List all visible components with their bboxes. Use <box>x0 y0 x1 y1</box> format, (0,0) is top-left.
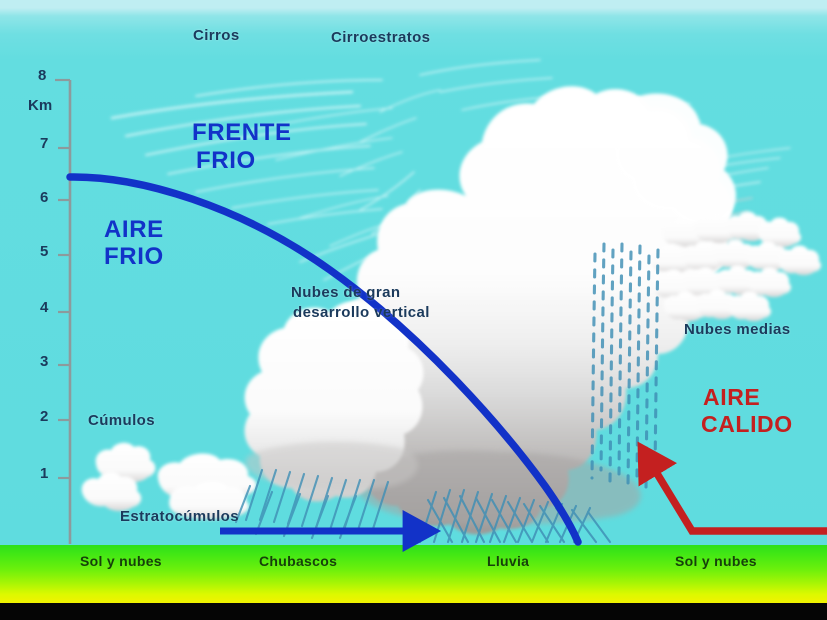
label-aire-frio-line1: AIRE <box>104 217 164 244</box>
label-nubes-gran-desarrollo-line2: desarrollo vertical <box>293 305 430 322</box>
ground-condition-3: Sol y nubes <box>675 554 757 570</box>
label-aire-calido-line1: AIRE <box>703 385 760 411</box>
cumulus-congestus-cloud <box>245 301 424 502</box>
label-aire-frio-line2: FRIO <box>104 244 164 271</box>
label-aire-calido-line2: CALIDO <box>701 412 793 438</box>
altocumulus-puff-grid <box>650 212 821 322</box>
y-axis-tick-6: 6 <box>40 190 48 207</box>
y-axis-tick-1: 1 <box>40 466 48 483</box>
warm-air-flow-arrow <box>650 462 827 531</box>
ground-condition-1: Chubascos <box>259 554 337 570</box>
y-axis-tick-8: 8 <box>38 68 46 85</box>
y-axis-tick-2: 2 <box>40 409 48 426</box>
label-frente-frio-line1: FRENTE <box>192 120 292 147</box>
y-axis-tick-4: 4 <box>40 300 48 317</box>
ground-condition-0: Sol y nubes <box>80 554 162 570</box>
ground-condition-2: Lluvia <box>487 554 529 570</box>
label-cirroestratos: Cirroestratos <box>331 30 430 47</box>
y-axis-tick-7: 7 <box>40 136 48 153</box>
label-frente-frio-line2: FRIO <box>196 148 256 175</box>
label-nubes-medias: Nubes medias <box>684 322 791 339</box>
label-cumulos: Cúmulos <box>88 413 155 430</box>
label-cirros: Cirros <box>193 28 240 45</box>
y-axis-unit-label: Km <box>28 98 52 115</box>
weather-diagram-canvas: 8 Km 7 6 5 4 3 2 1 Cirros Cirroestratos … <box>0 0 827 620</box>
label-nubes-gran-desarrollo-line1: Nubes de gran <box>291 285 400 302</box>
y-axis-tick-3: 3 <box>40 354 48 371</box>
y-axis-ticks <box>55 80 70 478</box>
y-axis-tick-5: 5 <box>40 244 48 261</box>
label-estratocumulos: Estratocúmulos <box>120 509 239 526</box>
